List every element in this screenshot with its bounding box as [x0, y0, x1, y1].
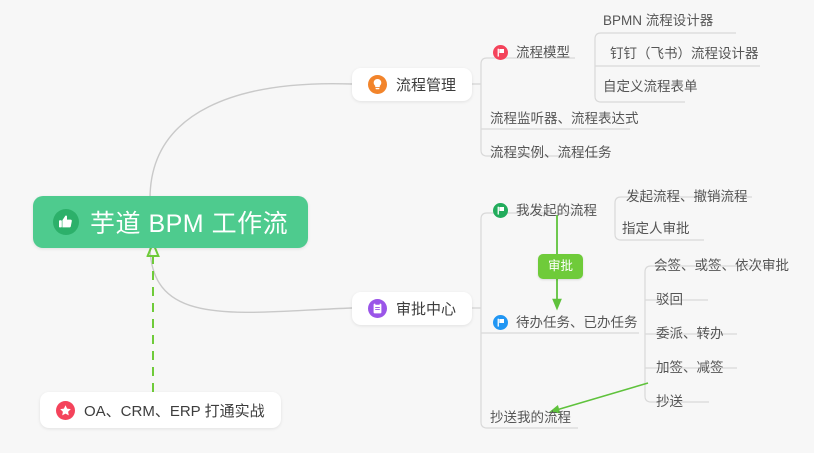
leaf-delegate-transfer[interactable]: 委派、转办	[656, 327, 724, 341]
leaf-process-listener[interactable]: 流程监听器、流程表达式	[490, 112, 639, 126]
flag-icon	[493, 203, 508, 218]
node-label: 流程模型	[516, 46, 570, 60]
clipboard-icon	[368, 299, 387, 318]
leaf-add-remove-sign[interactable]: 加签、减签	[656, 361, 724, 375]
link-root-to-approval-center	[150, 245, 352, 312]
flag-icon	[493, 45, 508, 60]
arrow-cc-to-me	[553, 383, 648, 411]
leaf-assignee-approval[interactable]: 指定人审批	[622, 222, 690, 236]
leaf-cc[interactable]: 抄送	[656, 395, 683, 409]
leaf-reject[interactable]: 驳回	[656, 293, 683, 307]
leaf-bpmn-designer[interactable]: BPMN 流程设计器	[603, 14, 713, 28]
leaf-cc-to-me[interactable]: 抄送我的流程	[490, 411, 571, 425]
root-node[interactable]: 芋道 BPM 工作流	[33, 196, 308, 248]
bracket-process-management	[481, 58, 607, 156]
lightbulb-icon	[368, 75, 387, 94]
callout-node[interactable]: OA、CRM、ERP 打通实战	[40, 392, 281, 428]
thumbs-up-icon	[53, 209, 79, 235]
node-todo-done[interactable]: 待办任务、已办任务	[493, 315, 638, 330]
node-process-model[interactable]: 流程模型	[493, 45, 570, 60]
node-my-started[interactable]: 我发起的流程	[493, 203, 597, 218]
leaf-custom-form[interactable]: 自定义流程表单	[603, 80, 698, 94]
link-root-to-process-management	[150, 84, 352, 199]
node-label: 我发起的流程	[516, 204, 597, 218]
mindmap-canvas: 芋道 BPM 工作流 OA、CRM、ERP 打通实战 流程管理 流程模型	[0, 0, 814, 453]
branch-label: 流程管理	[396, 74, 456, 95]
branch-approval-center[interactable]: 审批中心	[352, 292, 472, 325]
root-label: 芋道 BPM 工作流	[90, 204, 288, 240]
leaf-start-cancel-process[interactable]: 发起流程、撤销流程	[626, 190, 748, 204]
leaf-dingtalk-designer[interactable]: 钉钉（飞书）流程设计器	[610, 47, 759, 61]
node-label: 待办任务、已办任务	[516, 316, 638, 330]
leaf-countersign[interactable]: 会签、或签、依次审批	[654, 259, 789, 273]
approval-tag[interactable]: 审批	[538, 254, 583, 279]
flag-icon	[493, 315, 508, 330]
callout-label: OA、CRM、ERP 打通实战	[84, 400, 265, 421]
leaf-process-instance[interactable]: 流程实例、流程任务	[490, 146, 612, 160]
branch-label: 审批中心	[396, 298, 456, 319]
star-icon	[56, 401, 75, 420]
branch-process-management[interactable]: 流程管理	[352, 68, 472, 101]
